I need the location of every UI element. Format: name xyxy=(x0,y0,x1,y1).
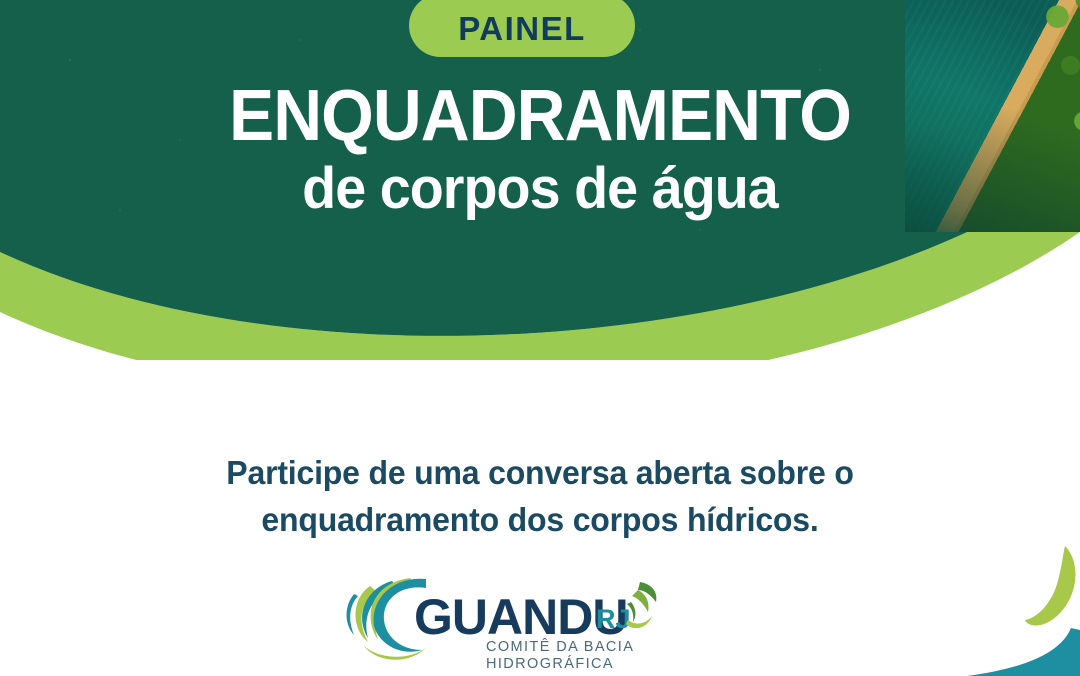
leaf-and-wave-flourish xyxy=(875,526,1080,676)
logo-state-code: RJ xyxy=(596,604,631,634)
logo-tagline-line-2: HIDROGRÁFICA xyxy=(486,655,614,672)
poster-canvas: PAINEL ENQUADRAMENTO de corpos de água P… xyxy=(0,0,1080,676)
aerial-shoreline-photo xyxy=(905,0,1080,232)
flourish-artwork xyxy=(875,526,1080,676)
flourish-leaf xyxy=(1025,546,1075,626)
photo-blend-overlay xyxy=(905,0,1080,232)
painel-badge-label: PAINEL xyxy=(458,7,586,45)
logo-tagline-line-1: COMITÊ DA BACIA xyxy=(486,638,634,655)
logo-artwork: GUANDU RJ COMITÊ DA BACIA HIDROGRÁFICA xyxy=(340,572,680,672)
guandu-logo: GUANDU RJ COMITÊ DA BACIA HIDROGRÁFICA xyxy=(340,572,680,672)
flourish-wave xyxy=(967,628,1080,676)
painel-badge: PAINEL xyxy=(409,0,635,57)
bird-leaf-icon xyxy=(626,582,656,628)
invitation-line-1: Participe de uma conversa aberta sobre o xyxy=(16,450,1064,497)
